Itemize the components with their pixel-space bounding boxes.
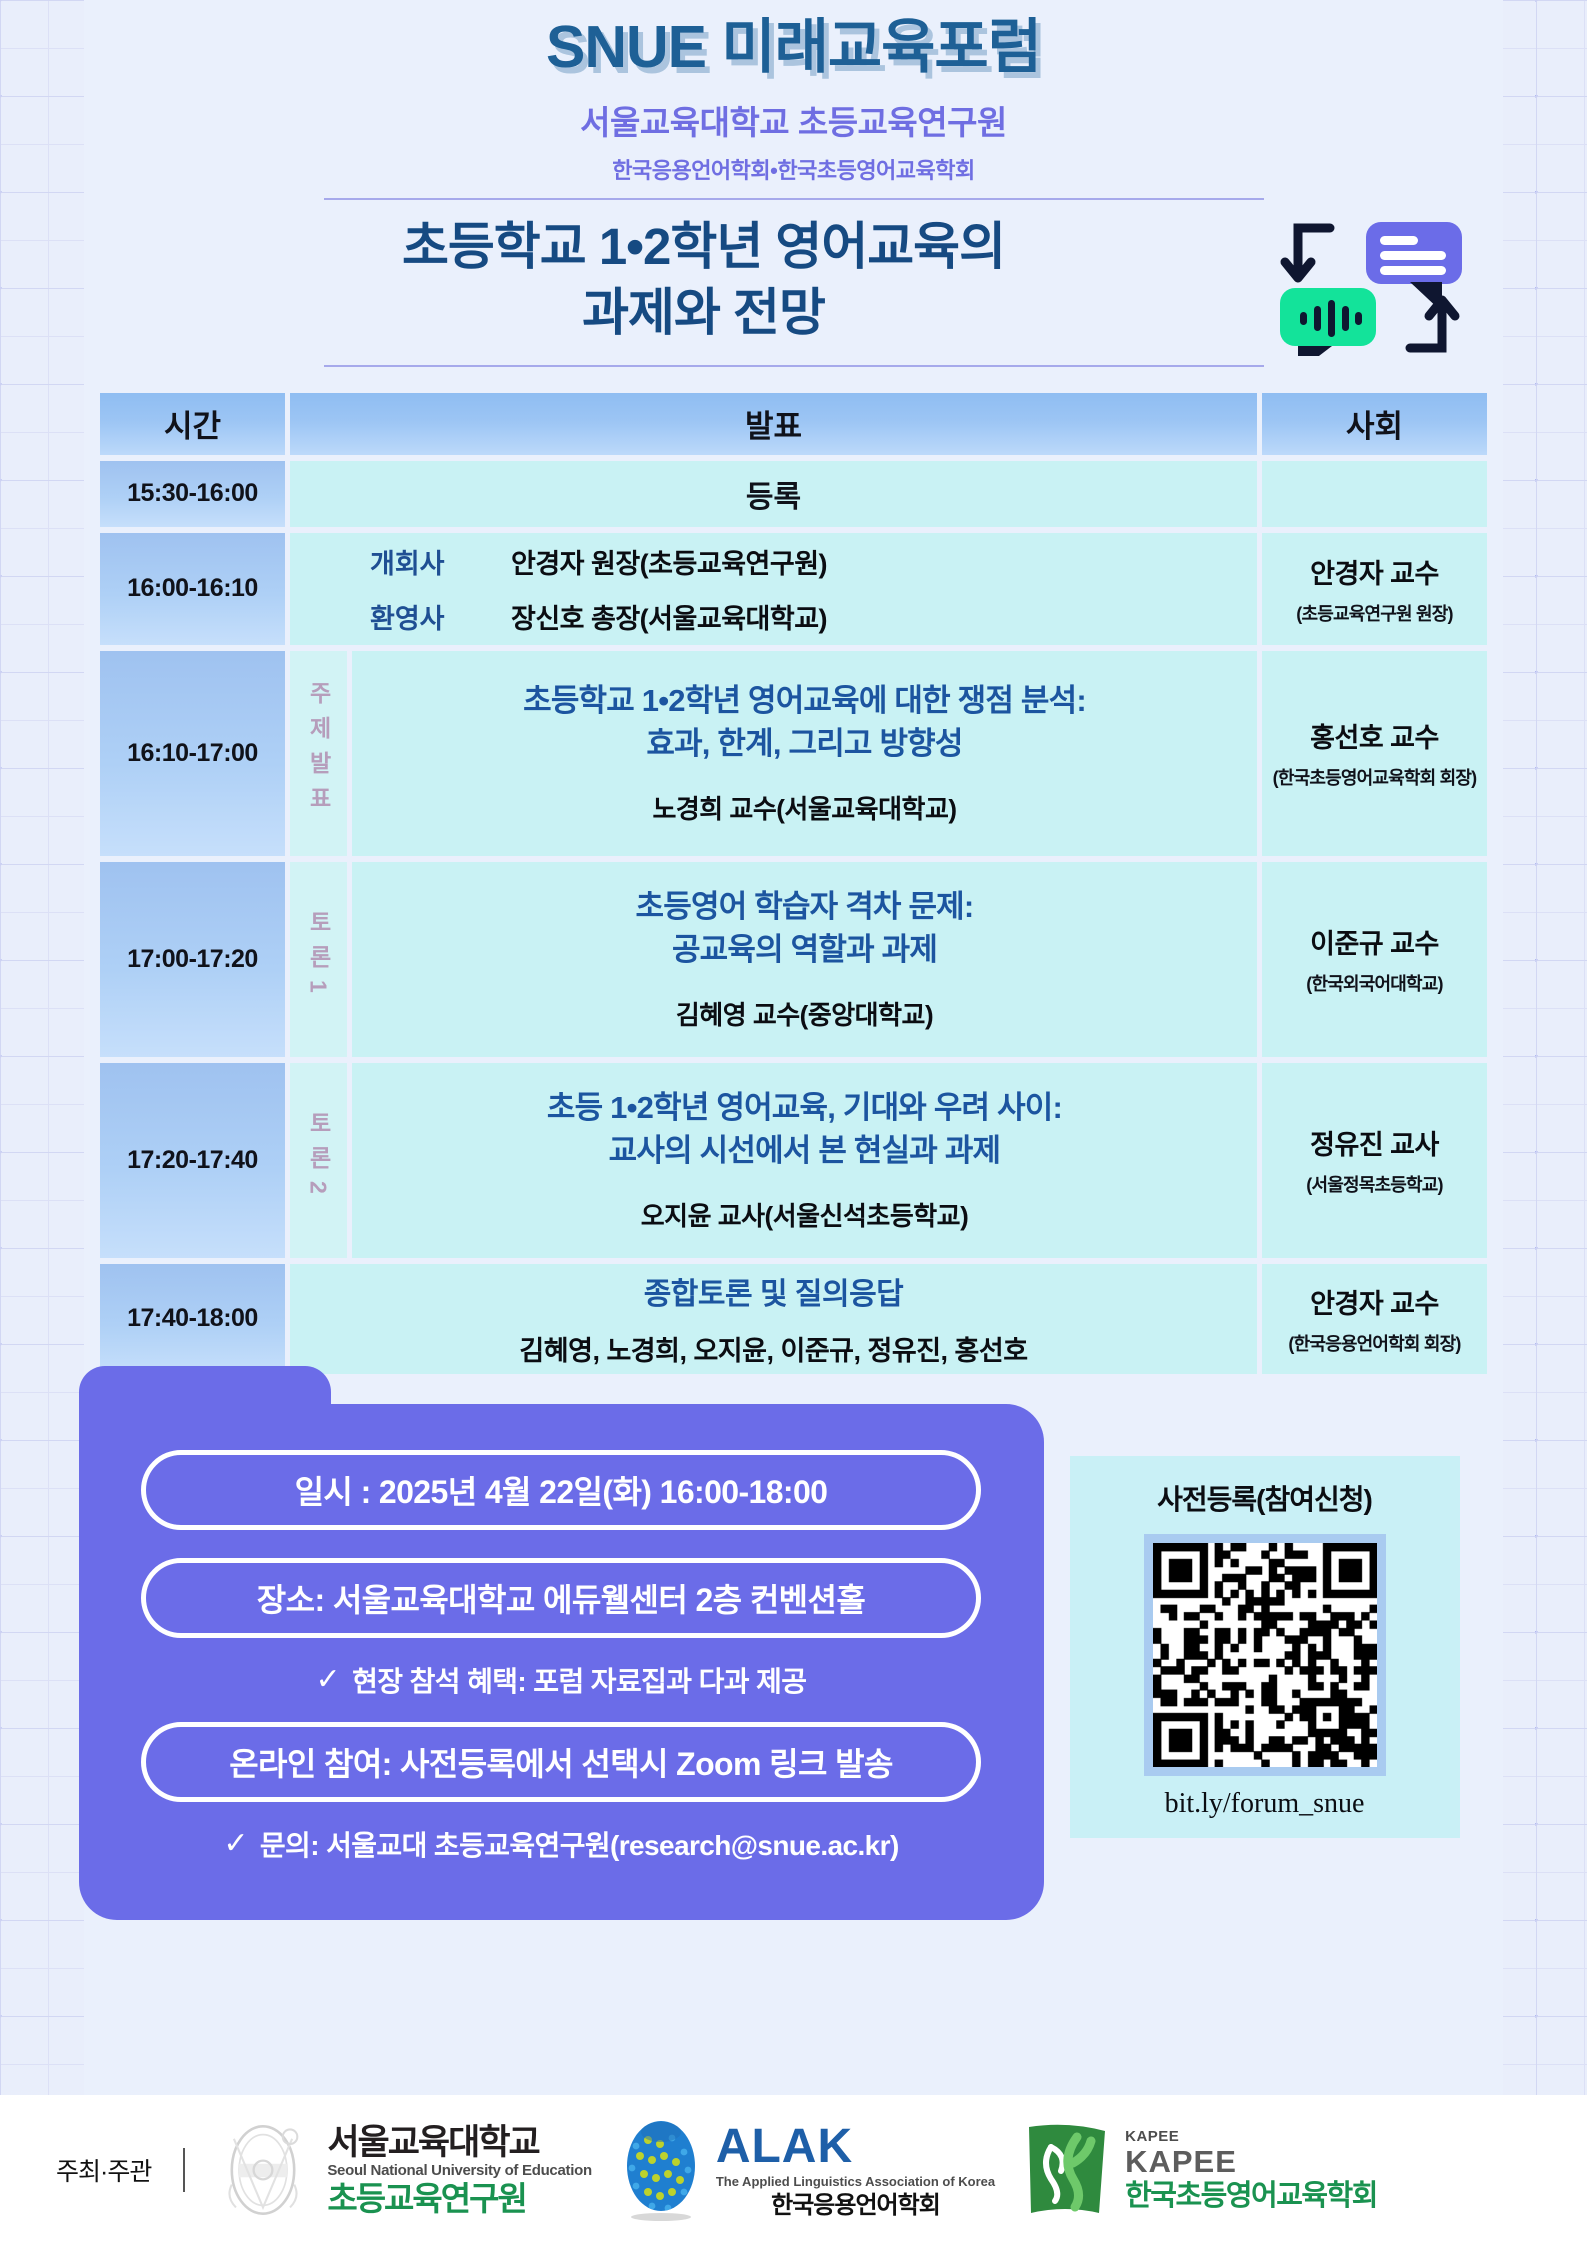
row-tag-label: 주제발표: [306, 675, 330, 827]
onsite-benefit: ✓ 현장 참석 혜택: 포럼 자료집과 다과 제공: [119, 1660, 1004, 1700]
row-session-cell: 초등영어 학습자 격차 문제: 공교육의 역할과 과제 김혜영 교수(중앙대학교…: [352, 862, 1257, 1057]
check-icon: ✓: [316, 1662, 341, 1697]
alak-korean-name: 한국응용언어학회: [716, 2194, 995, 2218]
alak-wordmark: ALAK The Applied Linguistics Association…: [716, 2123, 995, 2218]
moderator-affiliation: (초등교육연구원 원장): [1296, 600, 1452, 626]
table-row: 17:20-17:40 토론2 초등 1•2학년 영어교육, 기대와 우려 사이…: [100, 1063, 1487, 1258]
row-opening-cell: 개회사 안경자 원장(초등교육연구원) 환영사 장신호 총장(서울교육대학교): [290, 533, 1257, 645]
event-info-panel: 일시 : 2025년 4월 22일(화) 16:00-18:00 장소: 서울교…: [79, 1404, 1044, 1920]
kapee-wordmark: KAPEE KAPEE 한국초등영어교육학회: [1125, 2129, 1377, 2211]
row-moderator: 안경자 교수 (한국응용언어학회 회장): [1262, 1264, 1487, 1374]
poster-header: SNUE 미래교육포럼 서울교육대학교 초등교육연구원 한국응용언어학회•한국초…: [0, 0, 1587, 367]
column-header-presentation: 발표: [290, 393, 1257, 455]
qr-code-frame[interactable]: [1144, 1534, 1386, 1776]
kapee-acronym: KAPEE: [1125, 2146, 1377, 2177]
sponsor-footer: 주최·주관 서울교육대학교 Seoul National University …: [0, 2095, 1587, 2245]
qr-title: 사전등록(참여신청): [1088, 1478, 1442, 1518]
row-time: 17:20-17:40: [100, 1063, 285, 1258]
header-divider-bottom: [324, 365, 1264, 367]
snue-seal-icon: [211, 2118, 315, 2222]
moderator-affiliation: (한국응용언어학회 회장): [1288, 1330, 1460, 1356]
moderator-name: 홍선호 교수: [1310, 716, 1439, 755]
alak-acronym: ALAK: [716, 2123, 995, 2171]
row-time: 16:00-16:10: [100, 533, 285, 645]
organizer-line: 서울교육대학교 초등교육연구원: [0, 96, 1587, 144]
row-tag: 주제발표: [290, 651, 347, 856]
brand-title: SNUE 미래교육포럼: [0, 14, 1587, 80]
row-moderator: 정유진 교사 (서울정목초등학교): [1262, 1063, 1487, 1258]
moderator-name: 이준규 교수: [1310, 922, 1439, 961]
row-moderator: [1262, 461, 1487, 527]
logo-kapee: KAPEE KAPEE 한국초등영어교육학회: [1021, 2121, 1377, 2219]
footer-divider: [183, 2148, 185, 2192]
column-header-moderator: 사회: [1262, 393, 1487, 455]
kapee-korean-name: 한국초등영어교육학회: [1125, 2182, 1377, 2211]
check-icon: ✓: [223, 1826, 248, 1861]
session-presenter: 김혜영 교수(중앙대학교): [362, 995, 1247, 1032]
snue-institute-name: 초등교육연구원: [327, 2182, 591, 2215]
row-session-cell: 초등학교 1•2학년 영어교육에 대한 쟁점 분석: 효과, 한계, 그리고 방…: [352, 651, 1257, 856]
row-tag-label: 토론2: [306, 1105, 330, 1212]
logo-alak: ALAK The Applied Linguistics Association…: [618, 2118, 995, 2222]
opening-line: 환영사 장신호 총장(서울교육대학교): [370, 597, 1257, 636]
opening-label: 환영사: [370, 597, 475, 636]
online-participation: 온라인 참여: 사전등록에서 선택시 Zoom 링크 발송: [141, 1722, 981, 1802]
row-time: 16:10-17:00: [100, 651, 285, 856]
headline-block: 초등학교 1•2학년 영어교육의 과제와 전망: [94, 200, 1494, 355]
opening-line: 개회사 안경자 원장(초등교육연구원): [370, 542, 1257, 581]
lower-section: 일시 : 2025년 4월 22일(화) 16:00-18:00 장소: 서울교…: [79, 1404, 1509, 1920]
opening-value: 장신호 총장(서울교육대학교): [511, 597, 827, 636]
session-title-line-2: 공교육의 역할과 과제: [362, 929, 1247, 972]
table-row: 16:00-16:10 개회사 안경자 원장(초등교육연구원) 환영사 장신호 …: [100, 533, 1487, 645]
session-presenter: 오지윤 교사(서울신석초등학교): [362, 1196, 1247, 1233]
moderator-name: 안경자 교수: [1310, 1282, 1439, 1321]
row-tag-label: 토론1: [306, 904, 330, 1011]
session-title-line-1: 초등영어 학습자 격차 문제:: [362, 886, 1247, 929]
folder-tab-shape: [79, 1366, 331, 1424]
registration-qr-panel[interactable]: 사전등록(참여신청) bit.ly/forum_snue: [1070, 1456, 1460, 1838]
moderator-name: 안경자 교수: [1310, 552, 1439, 591]
session-title-line-1: 초등 1•2학년 영어교육, 기대와 우려 사이:: [362, 1087, 1247, 1130]
session-title-line-2: 효과, 한계, 그리고 방향성: [362, 723, 1247, 766]
snue-english-name: Seoul National University of Education: [327, 2163, 591, 2178]
table-row: 17:40-18:00 종합토론 및 질의응답 김혜영, 노경희, 오지윤, 이…: [100, 1264, 1487, 1374]
snue-wordmark: 서울교육대학교 Seoul National University of Edu…: [327, 2125, 591, 2215]
table-row: 16:10-17:00 주제발표 초등학교 1•2학년 영어교육에 대한 쟁점 …: [100, 651, 1487, 856]
row-time: 17:00-17:20: [100, 862, 285, 1057]
hosts-label: 주최·주관: [56, 2152, 151, 2188]
moderator-name: 정유진 교사: [1310, 1123, 1439, 1162]
kapee-leaf-icon: [1021, 2121, 1113, 2219]
globe-icon: [618, 2118, 704, 2222]
event-date: 일시 : 2025년 4월 22일(화) 16:00-18:00: [141, 1450, 981, 1530]
row-session-cell: 초등 1•2학년 영어교육, 기대와 우려 사이: 교사의 시선에서 본 현실과…: [352, 1063, 1257, 1258]
row-tag: 토론1: [290, 862, 347, 1057]
moderator-affiliation: (서울정목초등학교): [1306, 1171, 1442, 1197]
qr-url: bit.ly/forum_snue: [1088, 1788, 1442, 1820]
associations-line: 한국응용언어학회•한국초등영어교육학회: [0, 153, 1587, 185]
qr-code-image[interactable]: [1153, 1543, 1377, 1767]
row-moderator: 안경자 교수 (초등교육연구원 원장): [1262, 533, 1487, 645]
table-row: 15:30-16:00 등록: [100, 461, 1487, 527]
row-final-cell: 종합토론 및 질의응답 김혜영, 노경희, 오지윤, 이준규, 정유진, 홍선호: [290, 1264, 1257, 1374]
row-moderator: 홍선호 교수 (한국초등영어교육학회 회장): [1262, 651, 1487, 856]
row-time: 17:40-18:00: [100, 1264, 285, 1374]
kapee-small-acronym: KAPEE: [1125, 2129, 1377, 2144]
speech-bubbles-exchange-icon: [1270, 216, 1470, 356]
row-time: 15:30-16:00: [100, 461, 285, 527]
session-presenter: 노경희 교수(서울교육대학교): [362, 789, 1247, 826]
opening-label: 개회사: [370, 542, 475, 581]
alak-english-name: The Applied Linguistics Association of K…: [716, 2175, 995, 2188]
logo-snue: 서울교육대학교 Seoul National University of Edu…: [211, 2118, 591, 2222]
final-title: 종합토론 및 질의응답: [290, 1269, 1257, 1313]
schedule-table: 시간 발표 사회 15:30-16:00 등록 16:00-16:10 개회사: [95, 387, 1492, 1380]
session-title-line-1: 초등학교 1•2학년 영어교육에 대한 쟁점 분석:: [362, 680, 1247, 723]
opening-value: 안경자 원장(초등교육연구원): [511, 542, 827, 581]
table-header-row: 시간 발표 사회: [100, 393, 1487, 455]
moderator-affiliation: (한국외국어대학교): [1306, 970, 1442, 996]
row-title: 등록: [290, 461, 1257, 527]
column-header-time: 시간: [100, 393, 285, 455]
contact-text: 문의: 서울교대 초등교육연구원(research@snue.ac.kr): [260, 1824, 899, 1864]
onsite-benefit-text: 현장 참석 혜택: 포럼 자료집과 다과 제공: [352, 1660, 806, 1700]
row-tag: 토론2: [290, 1063, 347, 1258]
poster-page: SNUE 미래교육포럼 서울교육대학교 초등교육연구원 한국응용언어학회•한국초…: [0, 0, 1587, 2245]
moderator-affiliation: (한국초등영어교육학회 회장): [1273, 764, 1477, 790]
event-venue: 장소: 서울교육대학교 에듀웰센터 2층 컨벤션홀: [141, 1558, 981, 1638]
row-moderator: 이준규 교수 (한국외국어대학교): [1262, 862, 1487, 1057]
session-title-line-2: 교사의 시선에서 본 현실과 과제: [362, 1130, 1247, 1173]
table-row: 17:00-17:20 토론1 초등영어 학습자 격차 문제: 공교육의 역할과…: [100, 862, 1487, 1057]
snue-korean-name: 서울교육대학교: [327, 2125, 591, 2160]
contact-info: ✓ 문의: 서울교대 초등교육연구원(research@snue.ac.kr): [119, 1824, 1004, 1864]
final-participants: 김혜영, 노경희, 오지윤, 이준규, 정유진, 홍선호: [290, 1329, 1257, 1368]
